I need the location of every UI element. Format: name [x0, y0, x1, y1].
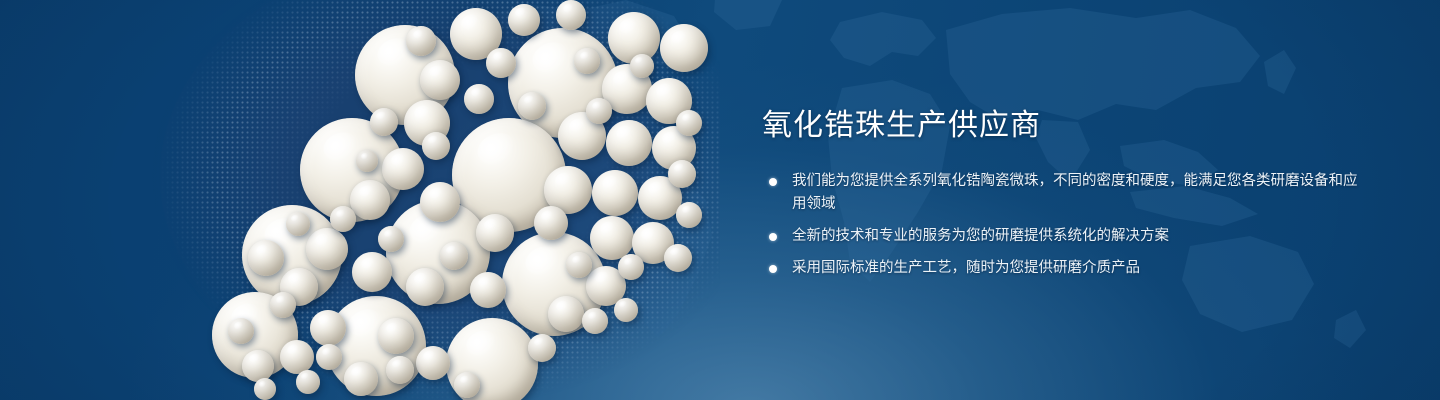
- hero-banner: 氧化锆珠生产供应商 我们能为您提供全系列氧化锆陶瓷微珠，不同的密度和硬度，能满足…: [0, 0, 1440, 400]
- product-photo: [120, 0, 720, 400]
- bullet-dot-icon: [769, 265, 777, 273]
- list-item: 全新的技术和专业的服务为您的研磨提供系统化的解决方案: [762, 225, 1362, 248]
- list-item-text: 我们能为您提供全系列氧化锆陶瓷微珠，不同的密度和硬度，能满足您各类研磨设备和应用…: [792, 173, 1358, 212]
- banner-text-block: 氧化锆珠生产供应商 我们能为您提供全系列氧化锆陶瓷微珠，不同的密度和硬度，能满足…: [762, 108, 1362, 280]
- bullet-dot-icon: [769, 233, 777, 241]
- zirconia-bead-cluster: [120, 0, 720, 400]
- list-item-text: 全新的技术和专业的服务为您的研磨提供系统化的解决方案: [792, 228, 1169, 244]
- list-item: 我们能为您提供全系列氧化锆陶瓷微珠，不同的密度和硬度，能满足您各类研磨设备和应用…: [762, 170, 1362, 216]
- feature-list: 我们能为您提供全系列氧化锆陶瓷微珠，不同的密度和硬度，能满足您各类研磨设备和应用…: [762, 170, 1362, 280]
- page-title: 氧化锆珠生产供应商: [762, 108, 1362, 144]
- list-item: 采用国际标准的生产工艺，随时为您提供研磨介质产品: [762, 257, 1362, 280]
- list-item-text: 采用国际标准的生产工艺，随时为您提供研磨介质产品: [792, 260, 1140, 276]
- bullet-dot-icon: [769, 178, 777, 186]
